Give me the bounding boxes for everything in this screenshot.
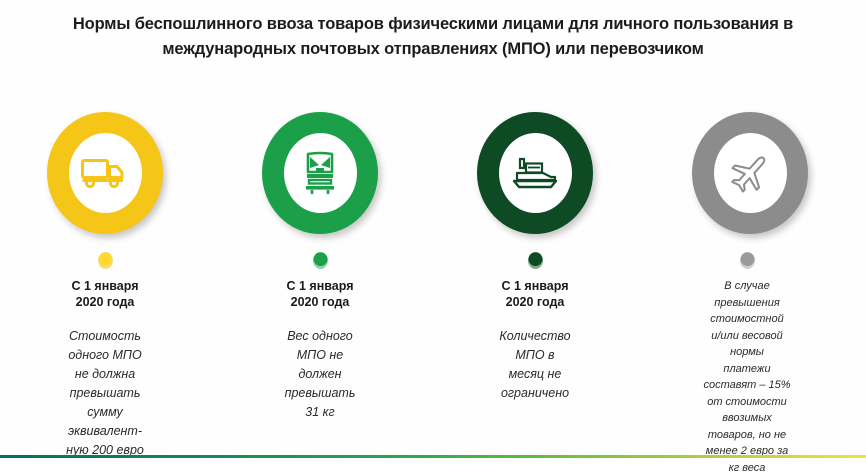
node-inner-disc bbox=[499, 133, 572, 213]
ship-icon bbox=[511, 156, 559, 190]
column-bullet-dot bbox=[528, 252, 543, 269]
bottom-gradient-rule bbox=[0, 455, 866, 458]
info-column-weight: С 1 января 2020 года Вес одного МПО не д… bbox=[245, 252, 395, 422]
info-column-cost: С 1 января 2020 года Стоимость одного МП… bbox=[30, 252, 180, 460]
effective-date-label: С 1 января 2020 года bbox=[245, 278, 395, 310]
airplane-icon bbox=[728, 151, 772, 195]
transport-node-ship[interactable] bbox=[477, 112, 593, 234]
info-column-excess-payment: В случае превышения стоимостной и/или ве… bbox=[672, 252, 822, 476]
page-title: Нормы беспошлинного ввоза товаров физиче… bbox=[18, 12, 848, 62]
rule-text-excess-payment: В случае превышения стоимостной и/или ве… bbox=[672, 278, 822, 476]
page-title-line-2: международных почтовых отправлениях (МПО… bbox=[18, 37, 848, 62]
column-bullet-dot bbox=[313, 252, 328, 269]
effective-date-label: С 1 января 2020 года bbox=[460, 278, 610, 310]
info-column-quantity: С 1 января 2020 года Количество МПО в ме… bbox=[460, 252, 610, 403]
node-inner-disc bbox=[714, 133, 787, 213]
node-inner-disc bbox=[284, 133, 357, 213]
transport-node-airplane[interactable] bbox=[692, 112, 808, 234]
rule-text-cost: Стоимость одного МПО не должна превышать… bbox=[30, 327, 180, 460]
transport-node-train[interactable] bbox=[262, 112, 378, 234]
column-bullet-dot bbox=[740, 252, 755, 269]
rule-text-quantity: Количество МПО в месяц не ограничено bbox=[460, 327, 610, 403]
page-title-line-1: Нормы беспошлинного ввоза товаров физиче… bbox=[18, 12, 848, 37]
train-icon bbox=[302, 151, 338, 195]
node-inner-disc bbox=[69, 133, 142, 213]
rule-text-weight: Вес одного МПО не должен превышать 31 кг bbox=[245, 327, 395, 422]
effective-date-label: С 1 января 2020 года bbox=[30, 278, 180, 310]
truck-icon bbox=[81, 156, 129, 190]
transport-chain bbox=[0, 112, 866, 234]
column-bullet-dot bbox=[98, 252, 113, 269]
transport-node-truck[interactable] bbox=[47, 112, 163, 234]
